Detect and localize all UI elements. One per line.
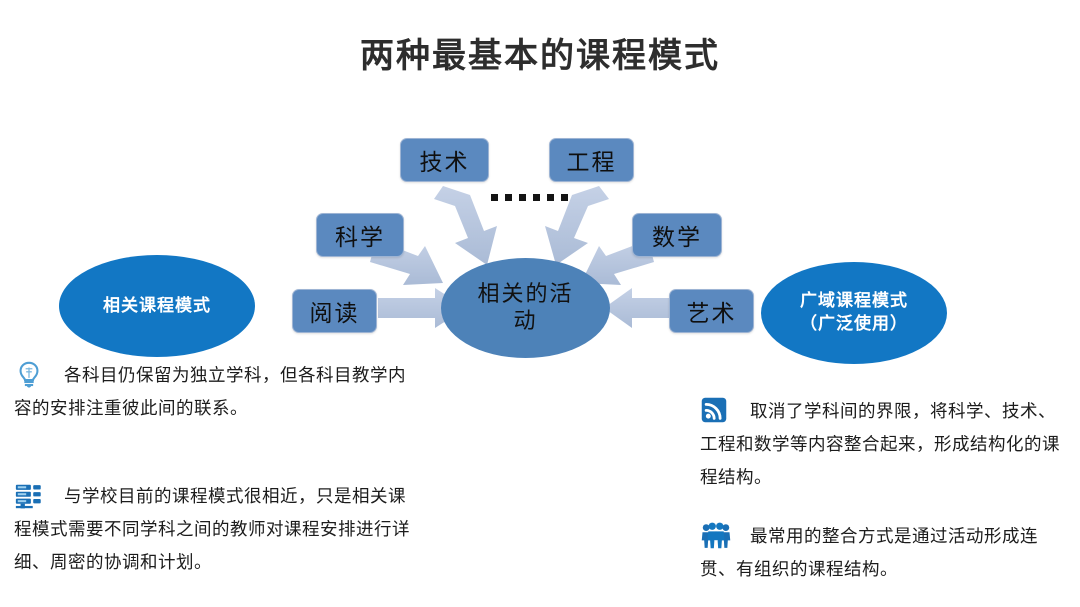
subject-box-science[interactable]: 科学 xyxy=(316,213,404,257)
dot xyxy=(533,194,540,201)
note-right-2: 最常用的整合方式是通过活动形成连贯、有组织的课程结构。 xyxy=(700,521,1070,587)
dot xyxy=(491,194,498,201)
note-left-2-text: 与学校目前的课程模式很相近，只是相关课程模式需要不同学科之间的教师对课程安排进行… xyxy=(14,481,414,580)
right-mode-label-line2: （广泛使用） xyxy=(800,313,908,336)
note-right-1-text: 取消了学科间的界限，将科学、技术、工程和数学等内容整合起来，形成结构化的课程结构… xyxy=(700,396,1070,495)
dot xyxy=(505,194,512,201)
subject-box-art[interactable]: 艺术 xyxy=(669,289,754,333)
right-mode-ellipse-broad-field[interactable]: 广域课程模式 （广泛使用） xyxy=(761,262,947,364)
subject-box-technology[interactable]: 技术 xyxy=(400,138,489,182)
subject-box-engineering[interactable]: 工程 xyxy=(549,138,634,182)
dot xyxy=(519,194,526,201)
subject-label: 数学 xyxy=(652,218,702,252)
subject-label: 技术 xyxy=(420,143,470,177)
dot xyxy=(561,194,568,201)
note-left-1-text: 各科目仍保留为独立学科，但各科目教学内容的安排注重彼此间的联系。 xyxy=(14,360,414,426)
subject-label: 科学 xyxy=(335,218,385,252)
subject-label: 阅读 xyxy=(310,294,360,328)
subject-label: 工程 xyxy=(567,143,617,177)
note-right-1: 取消了学科间的界限，将科学、技术、工程和数学等内容整合起来，形成结构化的课程结构… xyxy=(700,396,1070,495)
center-node-label: 相关的活动 xyxy=(473,281,579,336)
lightbulb-icon xyxy=(14,360,48,394)
people-group-icon xyxy=(700,521,734,555)
note-left-1: 各科目仍保留为独立学科，但各科目教学内容的安排注重彼此间的联系。 xyxy=(14,360,414,426)
note-left-2: 与学校目前的课程模式很相近，只是相关课程模式需要不同学科之间的教师对课程安排进行… xyxy=(14,481,414,580)
page-title: 两种最基本的课程模式 xyxy=(0,28,1080,77)
center-node-related-activity[interactable]: 相关的活动 xyxy=(441,258,610,358)
subject-box-reading[interactable]: 阅读 xyxy=(292,289,377,333)
left-mode-label: 相关课程模式 xyxy=(103,295,211,318)
arrow-technology-to-center xyxy=(434,186,497,265)
right-mode-label-line1: 广域课程模式 xyxy=(800,290,908,313)
slide-canvas: 两种最基本的课程模式 xyxy=(0,0,1080,607)
note-right-2-text: 最常用的整合方式是通过活动形成连贯、有组织的课程结构。 xyxy=(700,521,1070,587)
dot xyxy=(547,194,554,201)
server-stack-icon xyxy=(14,481,48,515)
subject-label: 艺术 xyxy=(687,294,737,328)
ellipsis-dots xyxy=(491,194,568,201)
subject-box-mathematics[interactable]: 数学 xyxy=(632,213,722,257)
rss-signal-icon xyxy=(700,396,734,430)
left-mode-ellipse-correlated[interactable]: 相关课程模式 xyxy=(59,255,255,357)
right-mode-label-wrap: 广域课程模式 （广泛使用） xyxy=(800,290,908,336)
